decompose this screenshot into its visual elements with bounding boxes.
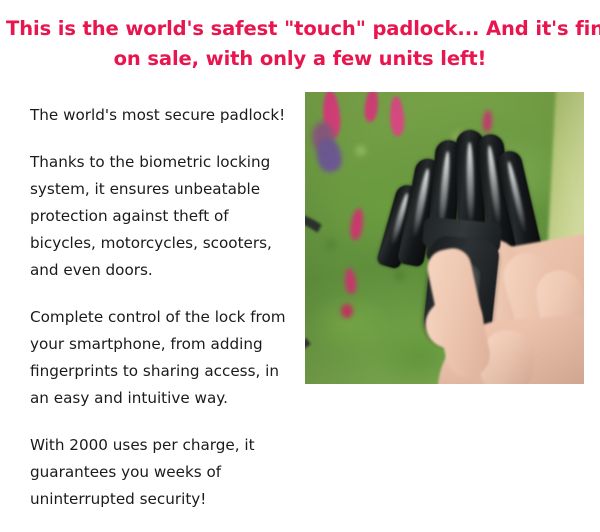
product-photo-canvas — [305, 92, 584, 384]
paragraph-1: The world's most secure padlock! — [30, 102, 288, 129]
paragraph-3: Complete control of the lock from your s… — [30, 304, 288, 412]
content-area: The world's most secure padlock! Thanks … — [0, 92, 600, 532]
paragraph-2: Thanks to the biometric locking system, … — [30, 149, 288, 284]
paragraph-4: With 2000 uses per charge, it guarantees… — [30, 432, 288, 513]
headline-line-1: This is the world's safest "touch" padlo… — [6, 14, 594, 44]
product-photo — [305, 92, 584, 384]
product-description-column: The world's most secure padlock! Thanks … — [30, 102, 288, 513]
headline-line-2: on sale, with only a few units left! — [6, 44, 594, 74]
promo-page: This is the world's safest "touch" padlo… — [0, 0, 600, 532]
page-headline: This is the world's safest "touch" padlo… — [0, 14, 600, 74]
